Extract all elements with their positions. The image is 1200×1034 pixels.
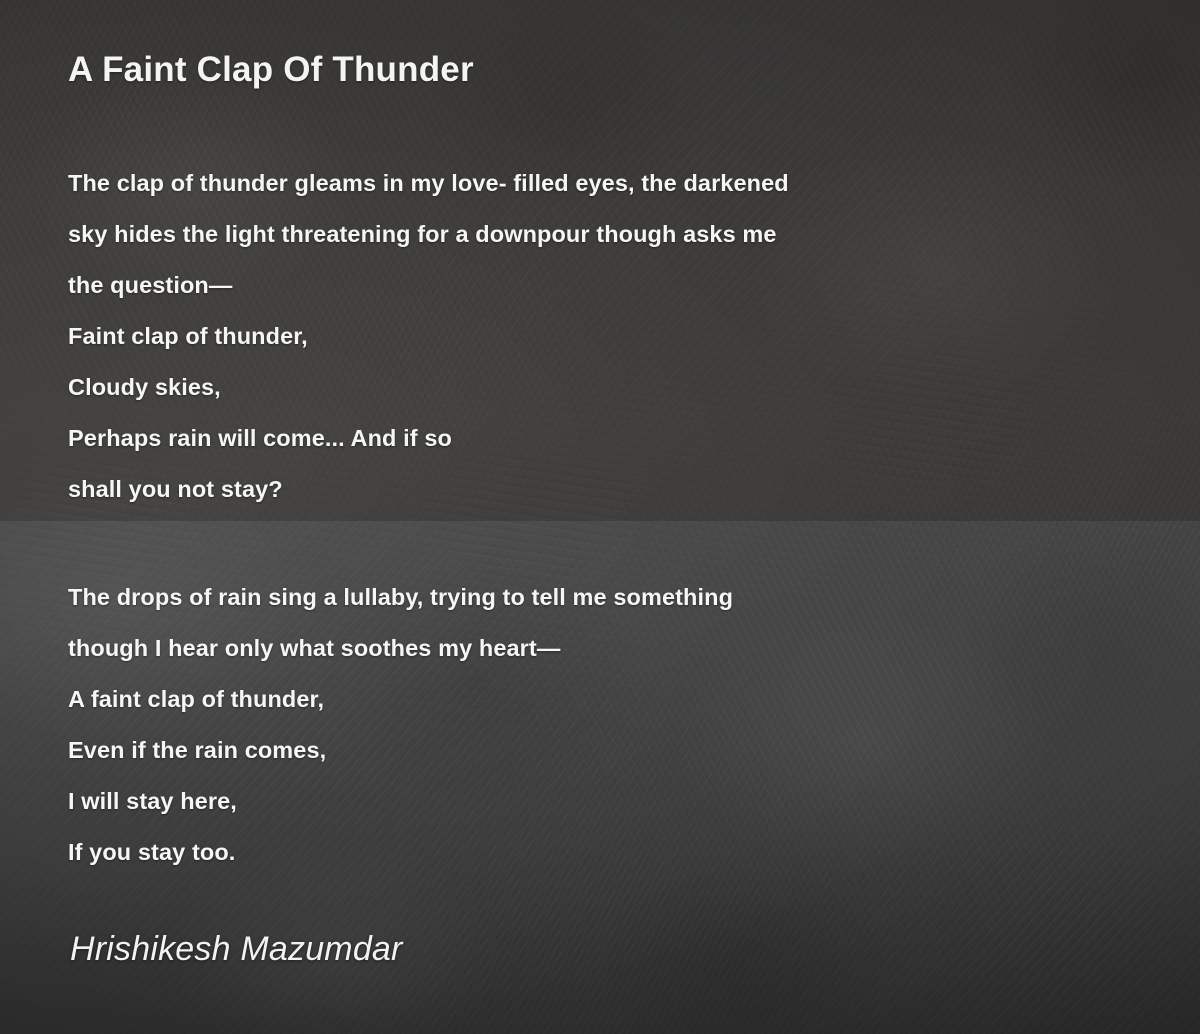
poem-author-name: Hrishikesh Mazumdar [70,930,403,969]
background-striation-layer-a [0,0,1200,1034]
background-emboss-blobs [0,0,1200,1034]
background-striation-layer-b [0,0,1200,1034]
poem-line: Even if the rain comes, [68,725,733,776]
poem-line: If you stay too. [68,827,733,878]
poem-line: Perhaps rain will come... And if so [68,413,789,464]
poem-line: A faint clap of thunder, [68,674,733,725]
poem-stanza-1: The clap of thunder gleams in my love- f… [68,158,789,515]
poem-stanza-2: The drops of rain sing a lullaby, trying… [68,572,733,878]
background-vignette [0,0,1200,1034]
poem-line: sky hides the light threatening for a do… [68,209,789,260]
background-striation-layer-c [0,0,1200,1034]
poem-image-card: A Faint Clap Of Thunder The clap of thun… [0,0,1200,1034]
poem-line: I will stay here, [68,776,733,827]
poem-line: though I hear only what soothes my heart… [68,623,733,674]
background-base-layer [0,0,1200,1034]
poem-line: The clap of thunder gleams in my love- f… [68,158,789,209]
poem-title: A Faint Clap Of Thunder [68,50,474,90]
poem-line: Faint clap of thunder, [68,311,789,362]
poem-line: Cloudy skies, [68,362,789,413]
poem-line: The drops of rain sing a lullaby, trying… [68,572,733,623]
poem-line: the question— [68,260,789,311]
background-striation-layer-d [0,0,1200,1034]
poem-line: shall you not stay? [68,464,789,515]
